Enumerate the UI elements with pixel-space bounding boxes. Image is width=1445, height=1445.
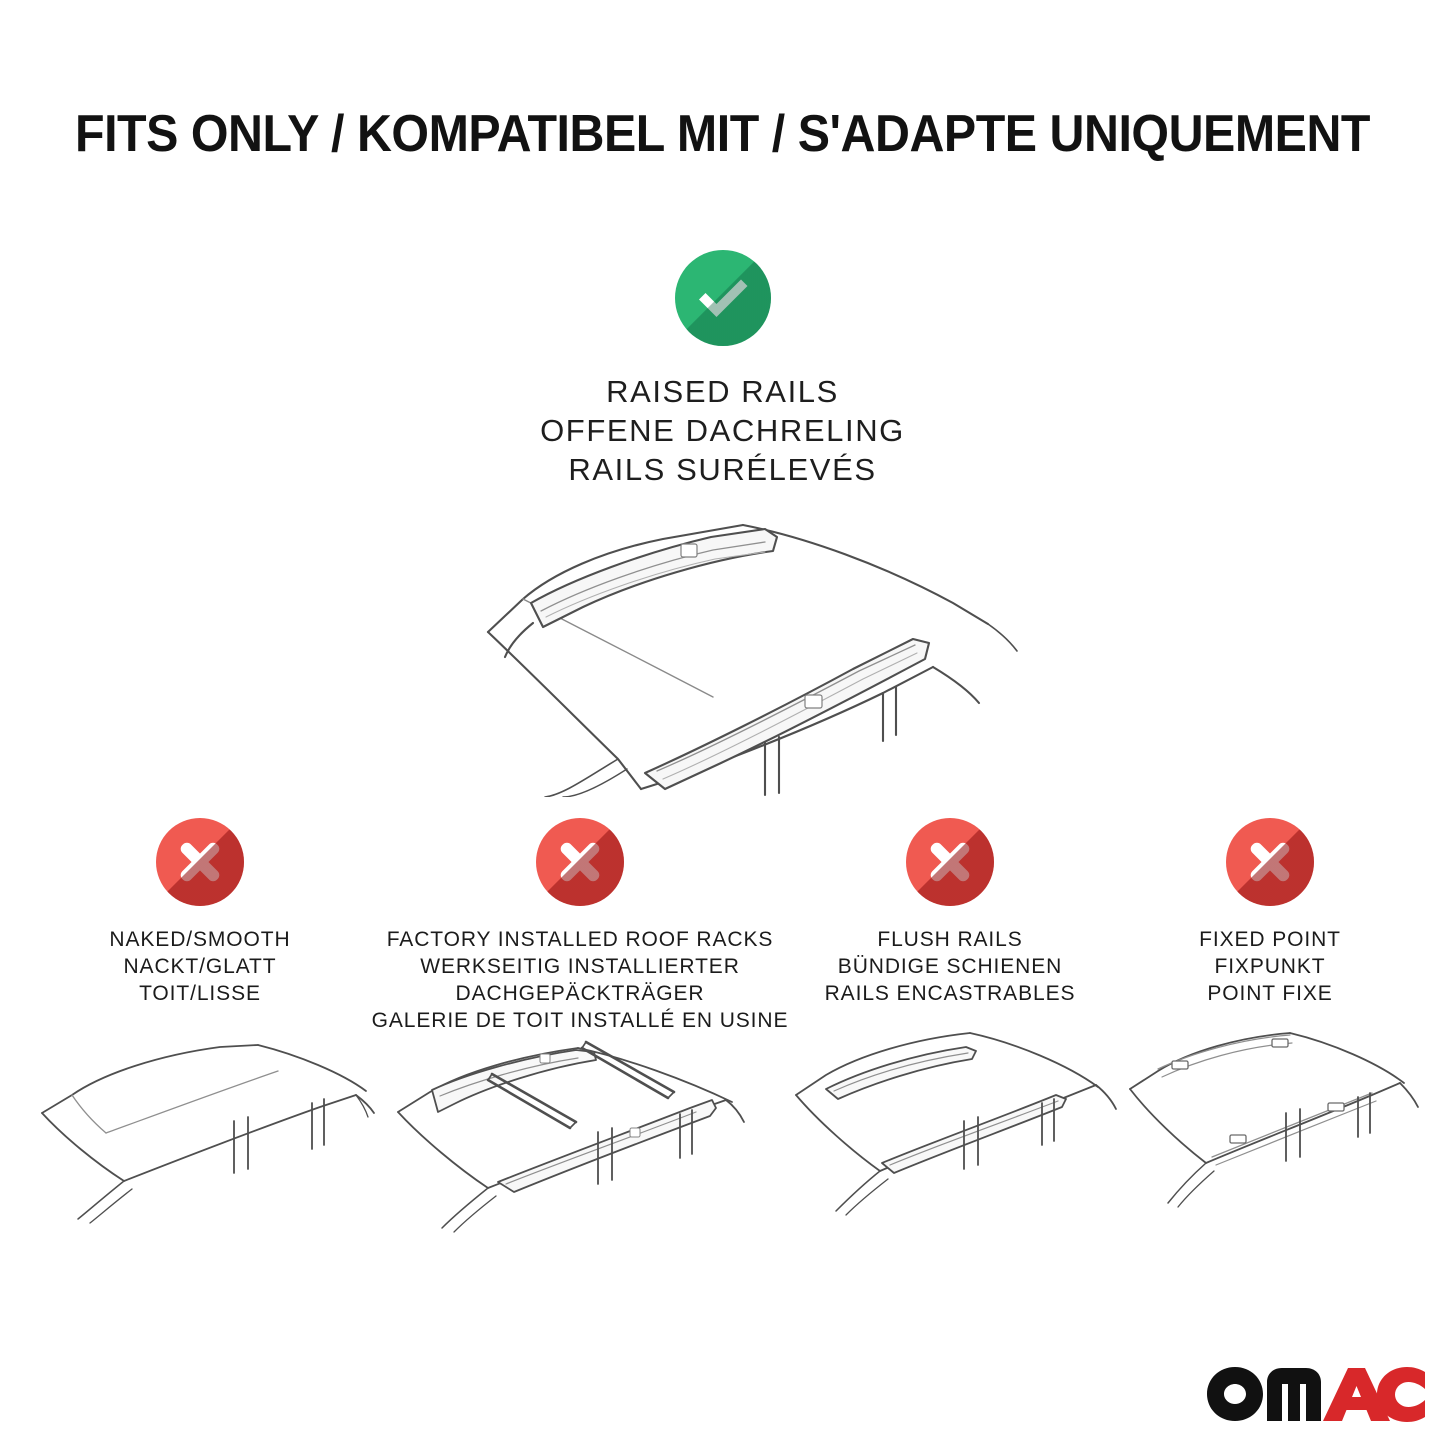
label-line-fr: GALERIE DE TOIT INSTALLÉ EN USINE: [372, 1007, 789, 1034]
car-roof-fixed-point-illustration: [1120, 1017, 1420, 1232]
check-circle-icon: [675, 250, 771, 346]
car-roof-naked-smooth-illustration: [20, 1021, 380, 1236]
car-roof-raised-rails-illustration: [413, 507, 1033, 797]
omac-logo: OMAC: [1205, 1365, 1427, 1423]
approved-fitment-block: RAISED RAILS OFFENE DACHRELING RAILS SUR…: [0, 250, 1445, 797]
label-line-en: FLUSH RAILS: [825, 926, 1076, 953]
approved-label-line-fr: RAILS SURÉLEVÉS: [540, 450, 905, 489]
rejected-label-factory-rack: FACTORY INSTALLED ROOF RACKS WERKSEITIG …: [372, 926, 789, 1034]
label-line-de: NACKT/GLATT: [109, 953, 290, 980]
label-line-fr: RAILS ENCASTRABLES: [825, 980, 1076, 1007]
label-line-fr: POINT FIXE: [1199, 980, 1341, 1007]
rejected-item-factory-rack: FACTORY INSTALLED ROOF RACKS WERKSEITIG …: [380, 818, 780, 1251]
x-circle-icon: [1226, 818, 1314, 906]
label-line-en: FIXED POINT: [1199, 926, 1341, 953]
car-roof-flush-rails-illustration: [780, 1017, 1120, 1232]
rejected-item-flush-rails: FLUSH RAILS BÜNDIGE SCHIENEN RAILS ENCAS…: [780, 818, 1120, 1232]
rejected-label-naked-smooth: NAKED/SMOOTH NACKT/GLATT TOIT/LISSE: [109, 926, 290, 1007]
label-line-de-1: WERKSEITIG INSTALLIERTER: [372, 953, 789, 980]
label-line-en: NAKED/SMOOTH: [109, 926, 290, 953]
label-line-en: FACTORY INSTALLED ROOF RACKS: [372, 926, 789, 953]
x-circle-icon: [156, 818, 244, 906]
car-roof-factory-rack-illustration: [380, 1036, 780, 1251]
rejected-label-flush-rails: FLUSH RAILS BÜNDIGE SCHIENEN RAILS ENCAS…: [825, 926, 1076, 1007]
fitment-infographic: FITS ONLY / KOMPATIBEL MIT / S'ADAPTE UN…: [0, 0, 1445, 1445]
rejected-label-fixed-point: FIXED POINT FIXPUNKT POINT FIXE: [1199, 926, 1341, 1007]
rejected-item-naked-smooth: NAKED/SMOOTH NACKT/GLATT TOIT/LISSE: [20, 818, 380, 1236]
x-circle-icon: [536, 818, 624, 906]
label-line-fr: TOIT/LISSE: [109, 980, 290, 1007]
rejected-fitment-row: NAKED/SMOOTH NACKT/GLATT TOIT/LISSE: [0, 818, 1445, 1251]
label-line-de: FIXPUNKT: [1199, 953, 1341, 980]
page-title: FITS ONLY / KOMPATIBEL MIT / S'ADAPTE UN…: [51, 104, 1395, 164]
approved-label: RAISED RAILS OFFENE DACHRELING RAILS SUR…: [540, 372, 905, 489]
rejected-item-fixed-point: FIXED POINT FIXPUNKT POINT FIXE: [1120, 818, 1420, 1232]
approved-label-line-en: RAISED RAILS: [540, 372, 905, 411]
label-line-de: BÜNDIGE SCHIENEN: [825, 953, 1076, 980]
x-circle-icon: [906, 818, 994, 906]
approved-label-line-de: OFFENE DACHRELING: [540, 411, 905, 450]
label-line-de-2: DACHGEPÄCKTRÄGER: [372, 980, 789, 1007]
